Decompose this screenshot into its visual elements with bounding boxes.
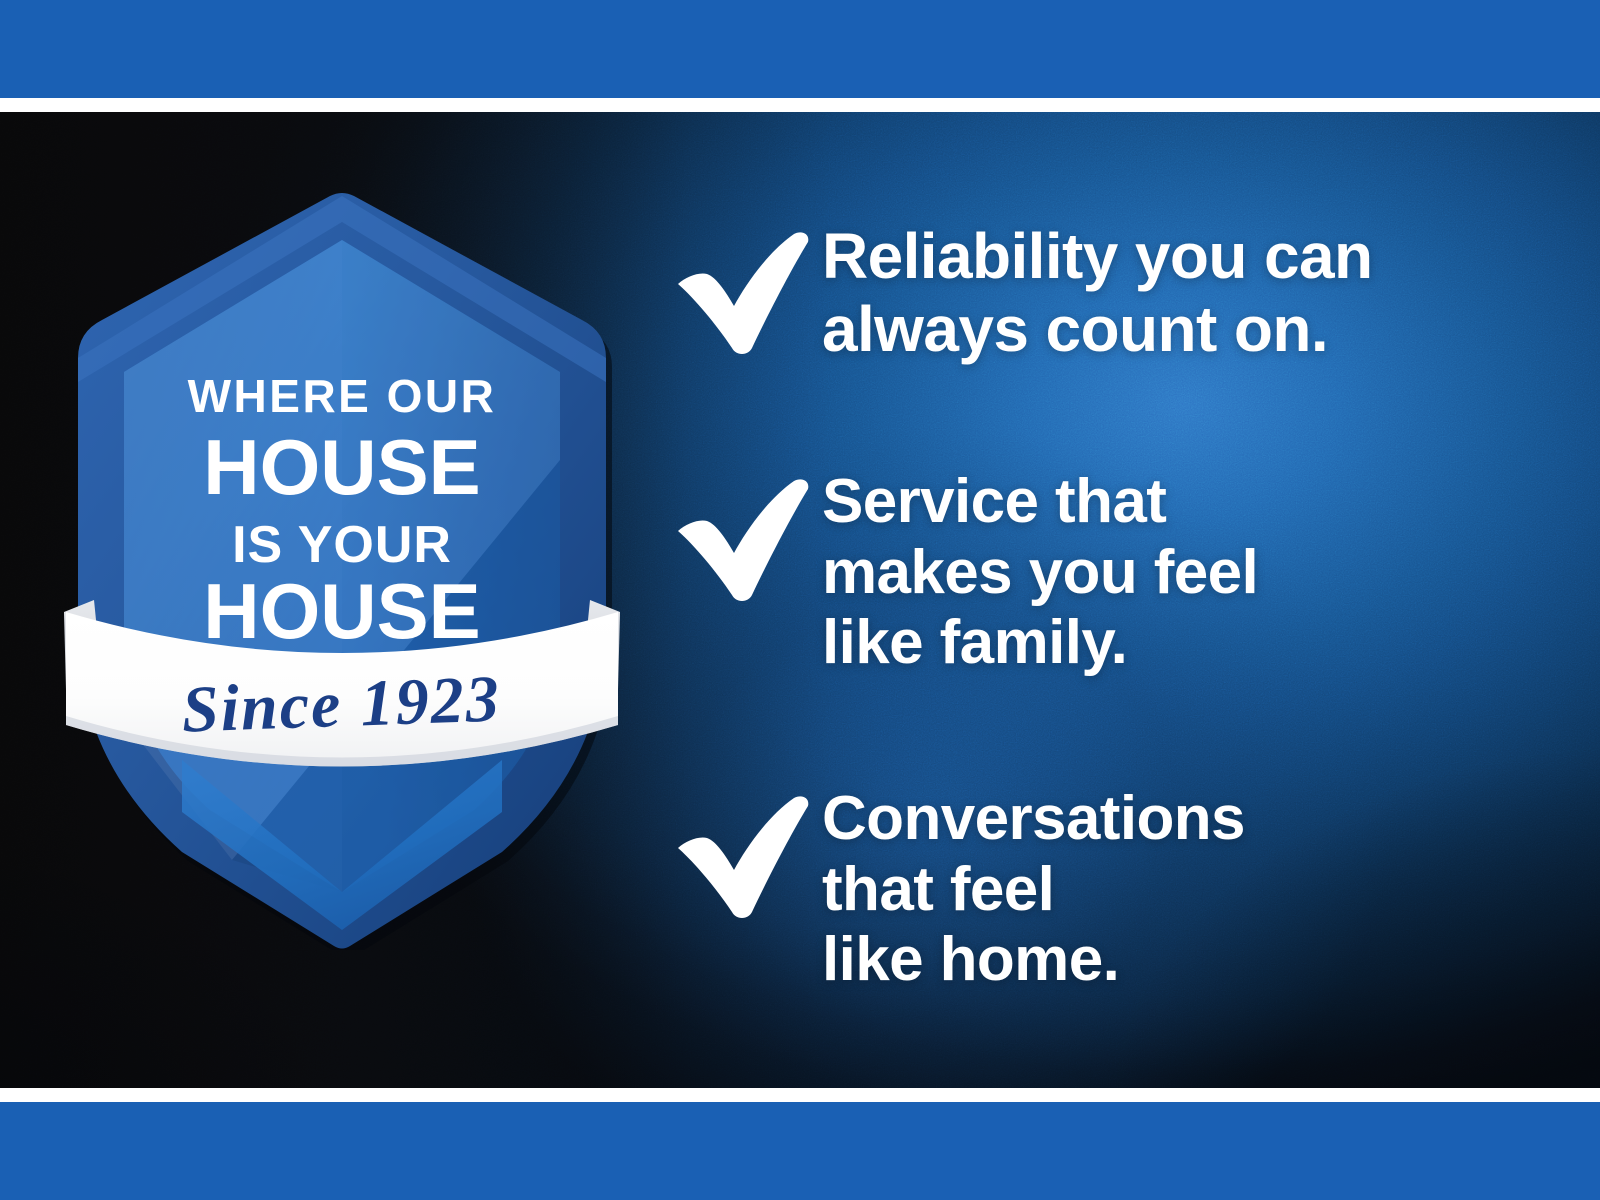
list-item: Conversations that feel like home. — [672, 784, 1245, 996]
bottom-white-divider — [0, 1088, 1600, 1102]
promo-graphic-canvas: WHERE OUR HOUSE IS YOUR HOUSE Since 1923… — [0, 0, 1600, 1200]
bottom-accent-band — [0, 1102, 1600, 1200]
top-accent-band — [0, 0, 1600, 98]
list-item: Service that makes you feel like family. — [672, 467, 1258, 679]
list-item-text: Conversations that feel like home. — [822, 784, 1245, 996]
benefits-list: Reliability you can always count on. Ser… — [672, 112, 1572, 1088]
checkmark-icon — [672, 784, 822, 920]
shield-line-3: IS YOUR — [232, 516, 452, 574]
list-item-text: Reliability you can always count on. — [822, 220, 1373, 366]
shield-line-2: HOUSE — [203, 423, 480, 511]
top-white-divider — [0, 98, 1600, 112]
checkmark-icon — [672, 220, 822, 356]
ribbon-since-text: Since 1923 — [181, 662, 502, 746]
shield-line-1: WHERE OUR — [188, 370, 497, 422]
list-item: Reliability you can always count on. — [672, 220, 1373, 366]
list-item-text: Service that makes you feel like family. — [822, 467, 1258, 679]
shield-badge: WHERE OUR HOUSE IS YOUR HOUSE Since 1923 — [62, 160, 622, 950]
shield-line-4: HOUSE — [203, 567, 480, 655]
checkmark-icon — [672, 467, 822, 603]
